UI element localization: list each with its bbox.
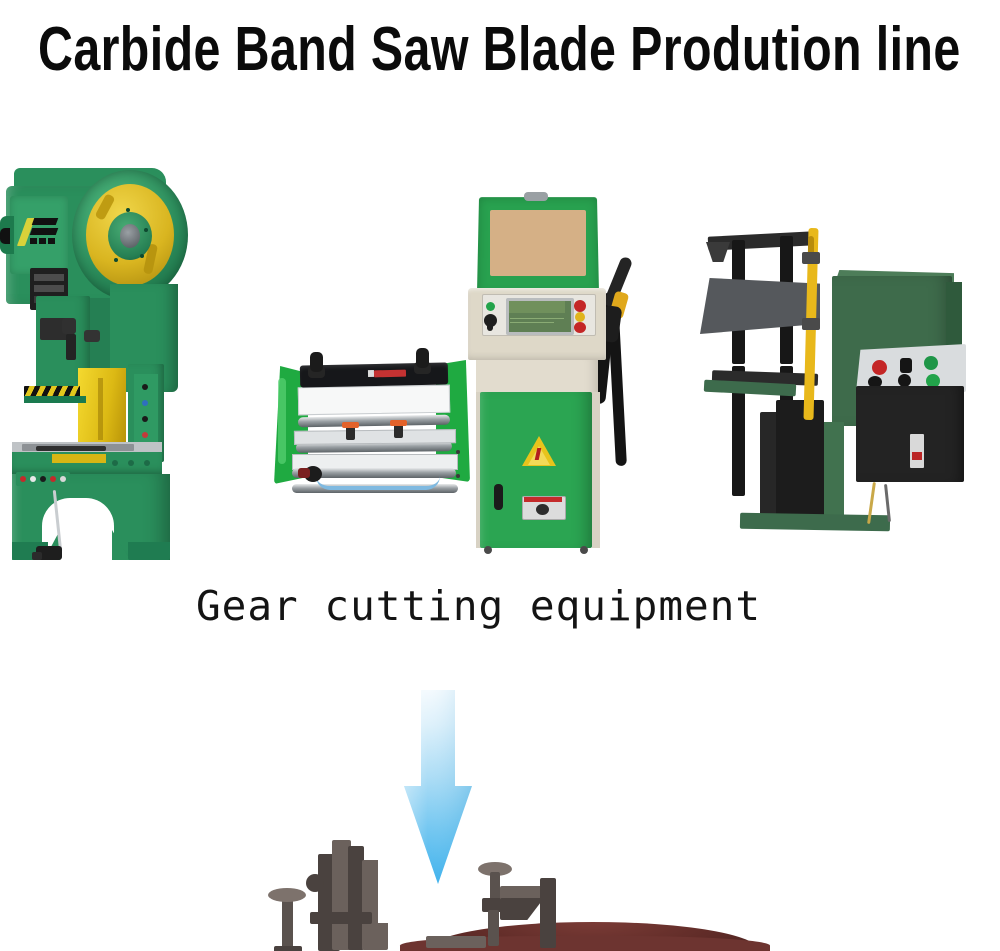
- cabinet-caster: [484, 546, 492, 554]
- page-title: Carbide Band Saw Blade Prodution line: [38, 14, 771, 86]
- lcd-text-line: [510, 322, 554, 323]
- machine-boss: [306, 874, 324, 892]
- flywheel-bolt-icon: [126, 208, 130, 212]
- decoiler-green-column: [824, 422, 844, 518]
- production-line-infographic: Carbide Band Saw Blade Prodution line: [0, 0, 1000, 951]
- section-caption: Gear cutting equipment: [196, 582, 761, 630]
- feeder-guard-window: [298, 385, 450, 416]
- machine-control-cabinet: [462, 196, 662, 556]
- cabinet-button: [142, 432, 148, 438]
- press-bed-bar: [36, 446, 106, 451]
- panel-knob-lever[interactable]: [487, 320, 493, 331]
- feeder-brand-label: [374, 370, 406, 378]
- decoiler-badge-mark: [912, 452, 922, 460]
- adjust-knob-cap[interactable]: [268, 888, 306, 902]
- press-head-face: [10, 196, 68, 274]
- panel-button-red[interactable]: [574, 300, 586, 312]
- knob-base: [274, 946, 302, 951]
- brand-logo-bar-icon: [30, 228, 59, 235]
- panel-button-amber[interactable]: [575, 312, 585, 322]
- cabinet-caster: [580, 546, 588, 554]
- cabinet-door-handle[interactable]: [494, 484, 503, 510]
- down-arrow: [398, 690, 480, 886]
- flywheel-shaft: [120, 224, 140, 248]
- feeder-plate: [294, 429, 456, 445]
- decoiler-black-column: [776, 400, 824, 522]
- machine-post: [540, 878, 556, 948]
- adjust-knob-stem: [282, 898, 293, 951]
- cabinet-latch-icon: [524, 192, 548, 201]
- cabinet-lid-insert: [490, 210, 586, 276]
- flywheel-bolt-icon: [144, 228, 148, 232]
- decoiler-button-green[interactable]: [924, 356, 938, 370]
- machine-arm-taper: [500, 898, 544, 920]
- feeder-side-highlight: [278, 378, 286, 464]
- adjust-knob-stem: [488, 910, 499, 946]
- press-button-white: [30, 476, 36, 482]
- press-button-white: [60, 476, 66, 482]
- feeder-air-hose: [316, 476, 440, 490]
- decoiler-badge: [910, 434, 924, 468]
- brand-logo-block-icon: [39, 238, 46, 244]
- bottom-machine-photo: [250, 826, 770, 951]
- panel-button-green[interactable]: [486, 302, 495, 311]
- feeder-bolt: [310, 352, 323, 372]
- press-pedal-toe: [32, 552, 42, 560]
- cabinet-button: [142, 416, 148, 422]
- press-side-shaft: [0, 228, 10, 244]
- feeder-clamp-handle: [390, 420, 407, 426]
- bed-hole-icon: [144, 460, 150, 466]
- decoiler-nut-icon: [802, 252, 820, 264]
- flywheel-bolt-icon: [140, 254, 144, 258]
- feeder-screw-icon: [456, 474, 460, 478]
- cabinet-selector-knob[interactable]: [536, 504, 549, 515]
- feeder-roller: [298, 415, 450, 428]
- brand-logo-block-icon: [30, 238, 37, 244]
- panel-button-red[interactable]: [574, 322, 586, 333]
- press-rod: [66, 334, 76, 360]
- feeder-clamp-handle: [342, 422, 359, 428]
- machine-decoiler: [684, 226, 974, 556]
- decoiler-knob[interactable]: [900, 358, 912, 373]
- lcd-glare: [509, 301, 565, 313]
- press-knob: [84, 330, 100, 342]
- machine-roller-feeder: [272, 344, 472, 504]
- bed-hole-icon: [128, 460, 134, 466]
- press-foot-right: [128, 542, 170, 560]
- feeder-screw-icon: [456, 450, 460, 454]
- lcd-text-line: [510, 318, 564, 319]
- flywheel-bolt-icon: [114, 258, 118, 262]
- press-button-black: [40, 476, 46, 482]
- feeder-bolt: [416, 348, 429, 368]
- press-bed-die: [52, 454, 106, 463]
- cabinet-button: [142, 400, 148, 406]
- brand-logo-block-icon: [48, 238, 55, 244]
- machine-punch-press: [0, 168, 190, 566]
- press-ram-slot: [34, 274, 64, 281]
- cabinet-button: [142, 384, 148, 390]
- press-button-red: [20, 476, 26, 482]
- decoiler-button-red[interactable]: [872, 360, 887, 375]
- press-button-red: [50, 476, 56, 482]
- nameplate-band: [524, 497, 562, 502]
- press-knob: [62, 318, 76, 334]
- arrow-shading: [404, 690, 472, 884]
- cabinet-door[interactable]: [480, 392, 592, 548]
- press-ram-slot: [34, 285, 64, 292]
- decoiler-arm-bracket: [706, 242, 730, 262]
- machine-crossbar: [310, 912, 372, 924]
- bed-hole-icon: [112, 460, 118, 466]
- press-ram-shadow: [98, 378, 103, 440]
- cabinet-door-edge: [592, 392, 600, 548]
- brand-logo-bar-icon: [32, 218, 59, 225]
- hazard-stripe-base: [24, 396, 86, 403]
- feeder-motor-cap: [298, 468, 310, 478]
- machine-foot: [426, 936, 486, 948]
- decoiler-nut-icon: [802, 318, 820, 330]
